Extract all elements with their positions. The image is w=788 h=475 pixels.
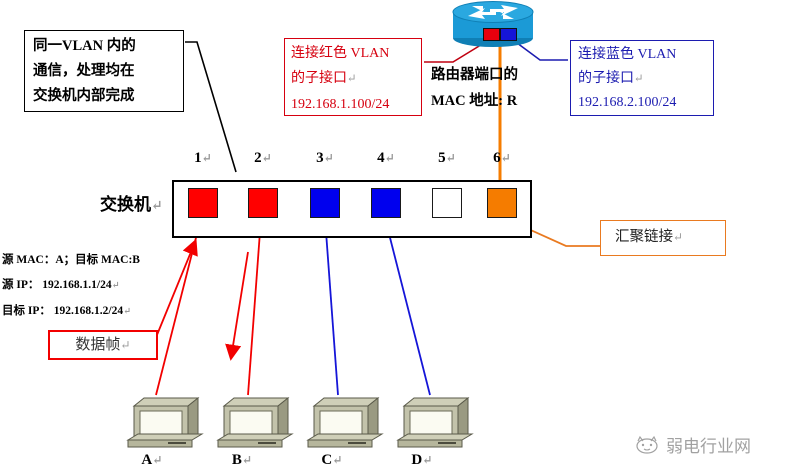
switch-label-text: 交换机 [100, 195, 151, 214]
computer-label-a: A↵ [110, 452, 194, 469]
computer-icon-a[interactable] [124, 392, 208, 454]
note-addr-line-1: 源 MAC：A；目标 MAC:B [2, 248, 187, 273]
cat-face-icon [634, 435, 660, 455]
note-same-vlan-line-1: 同一VLAN 内的 [33, 34, 183, 59]
computer-icon-b[interactable] [214, 392, 298, 454]
switch-port-6[interactable] [487, 188, 517, 218]
note-router-mac: 路由器端口的 MAC 地址: R [431, 62, 561, 114]
computer-icon-c[interactable] [304, 392, 388, 454]
note-red-vlan: 连接红色 VLAN 的子接口↵ 192.168.1.100/24 [284, 38, 422, 116]
note-same-vlan: 同一VLAN 内的 通信，处理均在 交换机内部完成 [24, 30, 184, 112]
note-frame-line-1: 数据帧↵ [50, 332, 156, 358]
note-blue-vlan: 连接蓝色 VLAN 的子接口↵ 192.168.2.100/24 [570, 40, 714, 116]
computer-label-b: B↵ [200, 452, 284, 469]
note-blue-vlan-line-3: 192.168.2.100/24 [578, 91, 713, 115]
note-addr-line-3: 目标 IP： 192.168.1.2/24↵ [2, 299, 187, 325]
computer-icon-d[interactable] [394, 392, 478, 454]
port-number-6: 6↵ [487, 150, 517, 167]
computer-label-d: D↵ [380, 452, 464, 469]
diagram-canvas: 交换机↵ 1↵ 2↵ 3↵ 4↵ 5↵ 6↵ 同一VLAN 内的 通信，处理均在… [0, 0, 788, 475]
link-port4-pcD [385, 218, 430, 395]
port-number-1: 1↵ [188, 150, 218, 167]
computer-label-c: C↵ [290, 452, 374, 469]
port-number-2: 2↵ [248, 150, 278, 167]
note-trunk: 汇聚链接↵ [600, 220, 726, 256]
note-same-vlan-line-3: 交换机内部完成 [33, 84, 183, 109]
note-red-vlan-line-1: 连接红色 VLAN [291, 41, 421, 66]
switch-port-5[interactable] [432, 188, 462, 218]
note-frame-addresses: 源 MAC：A；目标 MAC:B 源 IP： 192.168.1.1/24↵ 目… [2, 248, 187, 326]
link-port2-pcB [248, 218, 261, 395]
note-addr-line-2: 源 IP： 192.168.1.1/24↵ [2, 273, 187, 299]
router-subinterface-red[interactable] [483, 28, 500, 41]
note-router-mac-line-2: MAC 地址: R [431, 88, 561, 114]
note-red-vlan-line-3: 192.168.1.100/24 [291, 92, 421, 117]
switch-label: 交换机↵ [100, 190, 163, 215]
note-trunk-line-1: 汇聚链接↵ [615, 221, 725, 253]
watermark-text: 弱电行业网 [666, 432, 751, 457]
note-data-frame: 数据帧↵ [48, 330, 158, 360]
port-number-4: 4↵ [371, 150, 401, 167]
note-router-mac-line-1: 路由器端口的 [431, 62, 561, 88]
switch-port-2[interactable] [248, 188, 278, 218]
note-same-vlan-line-2: 通信，处理均在 [33, 59, 183, 84]
link-port3-pcC [325, 218, 338, 395]
frame-flow-arrow-down [232, 252, 248, 352]
port-number-3: 3↵ [310, 150, 340, 167]
switch-port-4[interactable] [371, 188, 401, 218]
switch-port-1[interactable] [188, 188, 218, 218]
port-number-5: 5↵ [432, 150, 462, 167]
router-subinterface-blue[interactable] [500, 28, 517, 41]
note-blue-vlan-line-1: 连接蓝色 VLAN [578, 43, 713, 67]
note-blue-vlan-line-2: 的子接口↵ [578, 67, 713, 91]
switch-chassis[interactable] [172, 180, 532, 238]
note-red-vlan-line-2: 的子接口↵ [291, 66, 421, 92]
switch-port-3[interactable] [310, 188, 340, 218]
watermark: 弱电行业网 [634, 432, 751, 457]
pilcrow-mark: ↵ [151, 199, 163, 214]
